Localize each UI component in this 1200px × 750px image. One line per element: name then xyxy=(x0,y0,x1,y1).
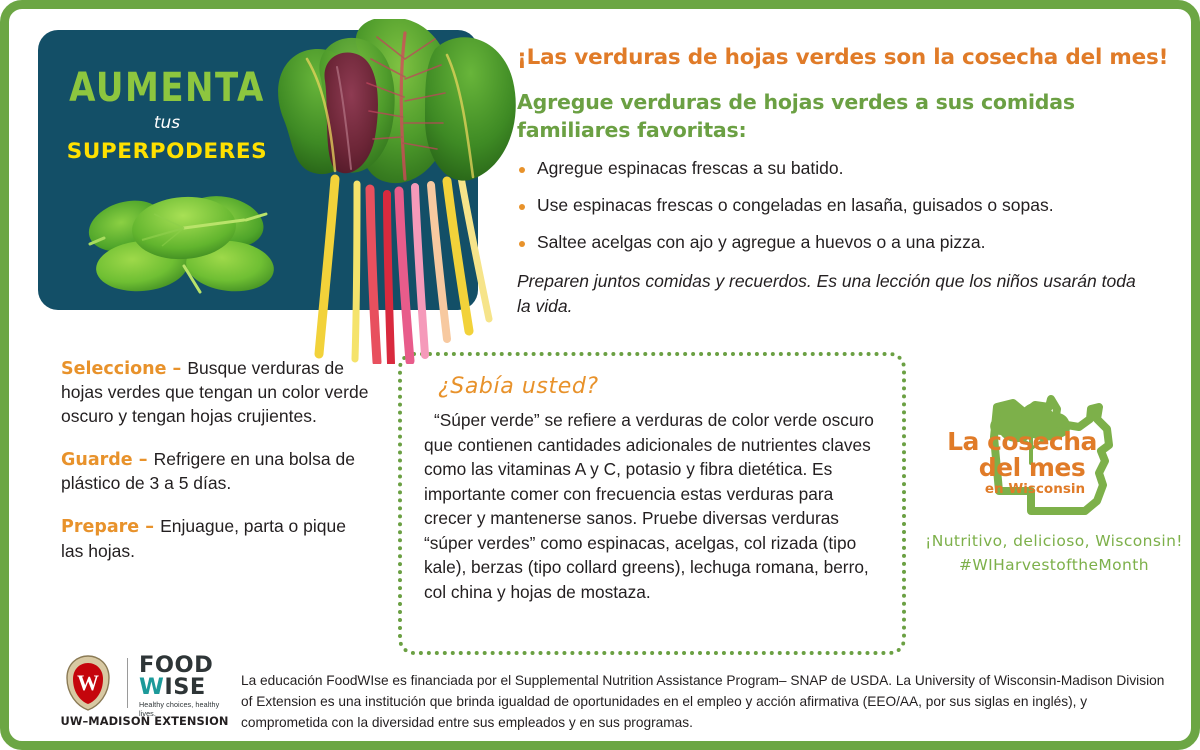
page-subheadline: Agregue verduras de hojas verdes a sus c… xyxy=(517,89,1137,144)
logo-line-1: La cosecha xyxy=(947,429,1097,455)
did-you-know-box: ¿Sabía usted? “Súper verde” se refiere a… xyxy=(398,352,906,655)
did-you-know-body: “Súper verde” se refiere a verduras de c… xyxy=(424,408,876,604)
hashtag-block: ¡Nutritivo, delicioso, Wisconsin! #WIHar… xyxy=(914,529,1194,577)
tip-label: Guarde – xyxy=(61,450,154,470)
hero-line-superpoderes: SUPERPODERES xyxy=(52,141,282,163)
tip-prepare: Prepare – Enjuague, parta o pique las ho… xyxy=(61,515,371,563)
hero-section: AUMENTA tus SUPERPODERES xyxy=(38,30,478,310)
harvest-of-the-month-logo: La cosecha del mes en Wisconsin xyxy=(939,389,1164,519)
foodwise-wise-rest: ISE xyxy=(164,674,205,700)
tip-guarde: Guarde – Refrigere en una bolsa de plást… xyxy=(61,448,371,496)
tip-label: Prepare – xyxy=(61,517,160,537)
logo-divider xyxy=(127,658,128,708)
hashtag-line-2: #WIHarvestoftheMonth xyxy=(914,553,1194,577)
main-copy-block: ¡Las verduras de hojas verdes son la cos… xyxy=(517,45,1185,320)
did-you-know-title: ¿Sabía usted? xyxy=(438,374,876,399)
extension-label: UW–MADISON EXTENSION xyxy=(57,714,232,728)
list-item-label: Use espinacas frescas o congeladas en la… xyxy=(537,195,1054,215)
list-item: Agregue espinacas frescas a su batido. xyxy=(517,158,1185,180)
tagline-text: Preparen juntos comidas y recuerdos. Es … xyxy=(517,269,1147,320)
foodwise-wordmark: FOOD WISE Healthy choices, healthy lives… xyxy=(139,654,234,718)
list-item: Use espinacas frescas o congeladas en la… xyxy=(517,195,1185,217)
tips-column: Seleccione – Busque verduras de hojas ve… xyxy=(61,357,371,583)
list-item-label: Saltee acelgas con ajo y agregue a huevo… xyxy=(537,232,986,252)
rainbow-chard-photo xyxy=(265,19,527,364)
foodwise-food-text: FOOD xyxy=(139,654,234,676)
poster-root: AUMENTA tus SUPERPODERES xyxy=(0,0,1200,750)
uw-madison-crest-icon: W xyxy=(57,654,119,712)
list-item: Saltee acelgas con ajo y agregue a huevo… xyxy=(517,232,1185,254)
hero-title: AUMENTA tus SUPERPODERES xyxy=(52,68,282,163)
hero-line-tus: tus xyxy=(52,115,282,132)
logo-line-3: en Wisconsin xyxy=(973,481,1097,497)
tip-label: Seleccione – xyxy=(61,359,187,379)
page-headline: ¡Las verduras de hojas verdes son la cos… xyxy=(517,45,1185,72)
footer-disclaimer: La educación FoodWIse es financiada por … xyxy=(241,671,1167,733)
logo-line-2: del mes xyxy=(967,455,1097,481)
svg-text:W: W xyxy=(77,670,99,695)
ideas-list: Agregue espinacas frescas a su batido. U… xyxy=(517,158,1185,254)
foodwise-wise-text: WISE xyxy=(139,676,234,698)
tip-seleccione: Seleccione – Busque verduras de hojas ve… xyxy=(61,357,371,428)
foodwise-logo-row: W FOOD WISE Healthy choices, healthy liv… xyxy=(57,654,232,712)
hashtag-line-1: ¡Nutritivo, delicioso, Wisconsin! xyxy=(914,529,1194,553)
foodwise-logo: W FOOD WISE Healthy choices, healthy liv… xyxy=(57,654,232,736)
spinach-leaves-photo xyxy=(84,178,284,296)
foodwise-wise-w: W xyxy=(139,674,164,700)
list-item-label: Agregue espinacas frescas a su batido. xyxy=(537,158,843,178)
hero-line-aumenta: AUMENTA xyxy=(52,68,282,108)
harvest-logo-wordmark: La cosecha del mes en Wisconsin xyxy=(947,429,1097,497)
